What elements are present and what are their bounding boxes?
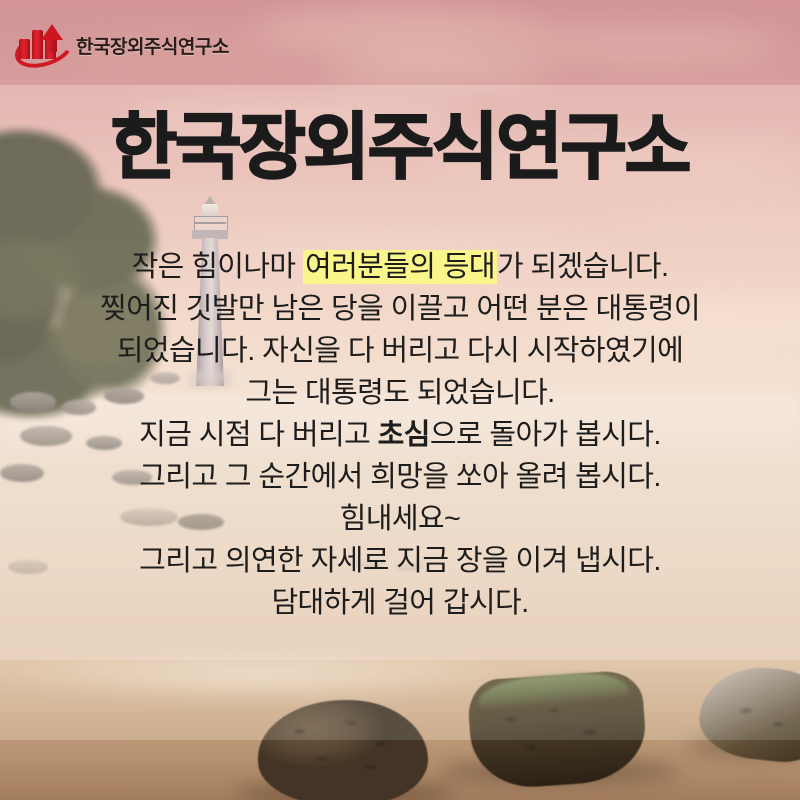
message-text: 작은 힘이나마	[132, 251, 303, 283]
message-line: 그리고 그 순간에서 희망을 쏘아 올려 봅시다.	[0, 456, 800, 498]
brand-name: 한국장외주식연구소	[76, 32, 229, 59]
message-line: 되었습니다. 자신을 다 버리고 다시 시작하였기에	[0, 330, 800, 372]
foreground-rock	[700, 668, 800, 760]
message-text: 담대하게 걸어 갑시다.	[271, 587, 528, 619]
rock-texture	[716, 686, 800, 748]
cloud	[520, 28, 780, 62]
foreground-rock	[258, 700, 428, 800]
message-line: 지금 시점 다 버리고 초심으로 돌아가 봅시다.	[0, 414, 800, 456]
message-text: 되었습니다. 자신을 다 버리고 다시 시작하였기에	[117, 335, 683, 367]
message-text: 으로 돌아가 봅시다.	[430, 419, 661, 451]
message-text: 가 되겠습니다.	[497, 251, 668, 283]
bold-text: 초심	[378, 419, 430, 451]
message-text: 힘내세요~	[340, 503, 461, 535]
message-line: 찢어진 깃발만 남은 당을 이끌고 어떤 분은 대통령이	[0, 288, 800, 330]
message-text: 그리고 그 순간에서 희망을 쏘아 올려 봅시다.	[139, 461, 661, 493]
highlighted-text: 여러분들의 등대	[303, 250, 497, 284]
promo-card: 한국장외주식연구소 한국장외주식연구소 작은 힘이나마 여러분들의 등대가 되겠…	[0, 0, 800, 800]
chart-bar	[19, 39, 30, 59]
message-line: 담대하게 걸어 갑시다.	[0, 582, 800, 624]
message-text: 찢어진 깃발만 남은 당을 이끌고 어떤 분은 대통령이	[100, 293, 700, 325]
message-line: 그리고 의연한 자세로 지금 장을 이겨 냅시다.	[0, 540, 800, 582]
message-text: 그는 대통령도 되었습니다.	[245, 377, 554, 409]
cloud	[250, 10, 550, 54]
message-text: 지금 시점 다 버리고	[139, 419, 377, 451]
arrow-up-icon	[41, 24, 63, 40]
bar-chart-arrow-icon	[14, 22, 68, 68]
page-title: 한국장외주식연구소	[0, 112, 800, 184]
message-line: 그는 대통령도 되었습니다.	[0, 372, 800, 414]
foreground-rock	[470, 675, 645, 785]
brand-logo[interactable]: 한국장외주식연구소	[14, 22, 229, 68]
rock-texture	[270, 706, 418, 791]
message-body: 작은 힘이나마 여러분들의 등대가 되겠습니다.찢어진 깃발만 남은 당을 이끌…	[0, 246, 800, 624]
message-line: 작은 힘이나마 여러분들의 등대가 되겠습니다.	[0, 246, 800, 288]
lighthouse-railing-bar	[194, 222, 226, 224]
rock-texture	[484, 689, 631, 775]
message-line: 힘내세요~	[0, 498, 800, 540]
cloud	[330, 52, 550, 82]
lighthouse-gallery	[192, 230, 228, 239]
message-text: 그리고 의연한 자세로 지금 장을 이겨 냅시다.	[139, 545, 661, 577]
